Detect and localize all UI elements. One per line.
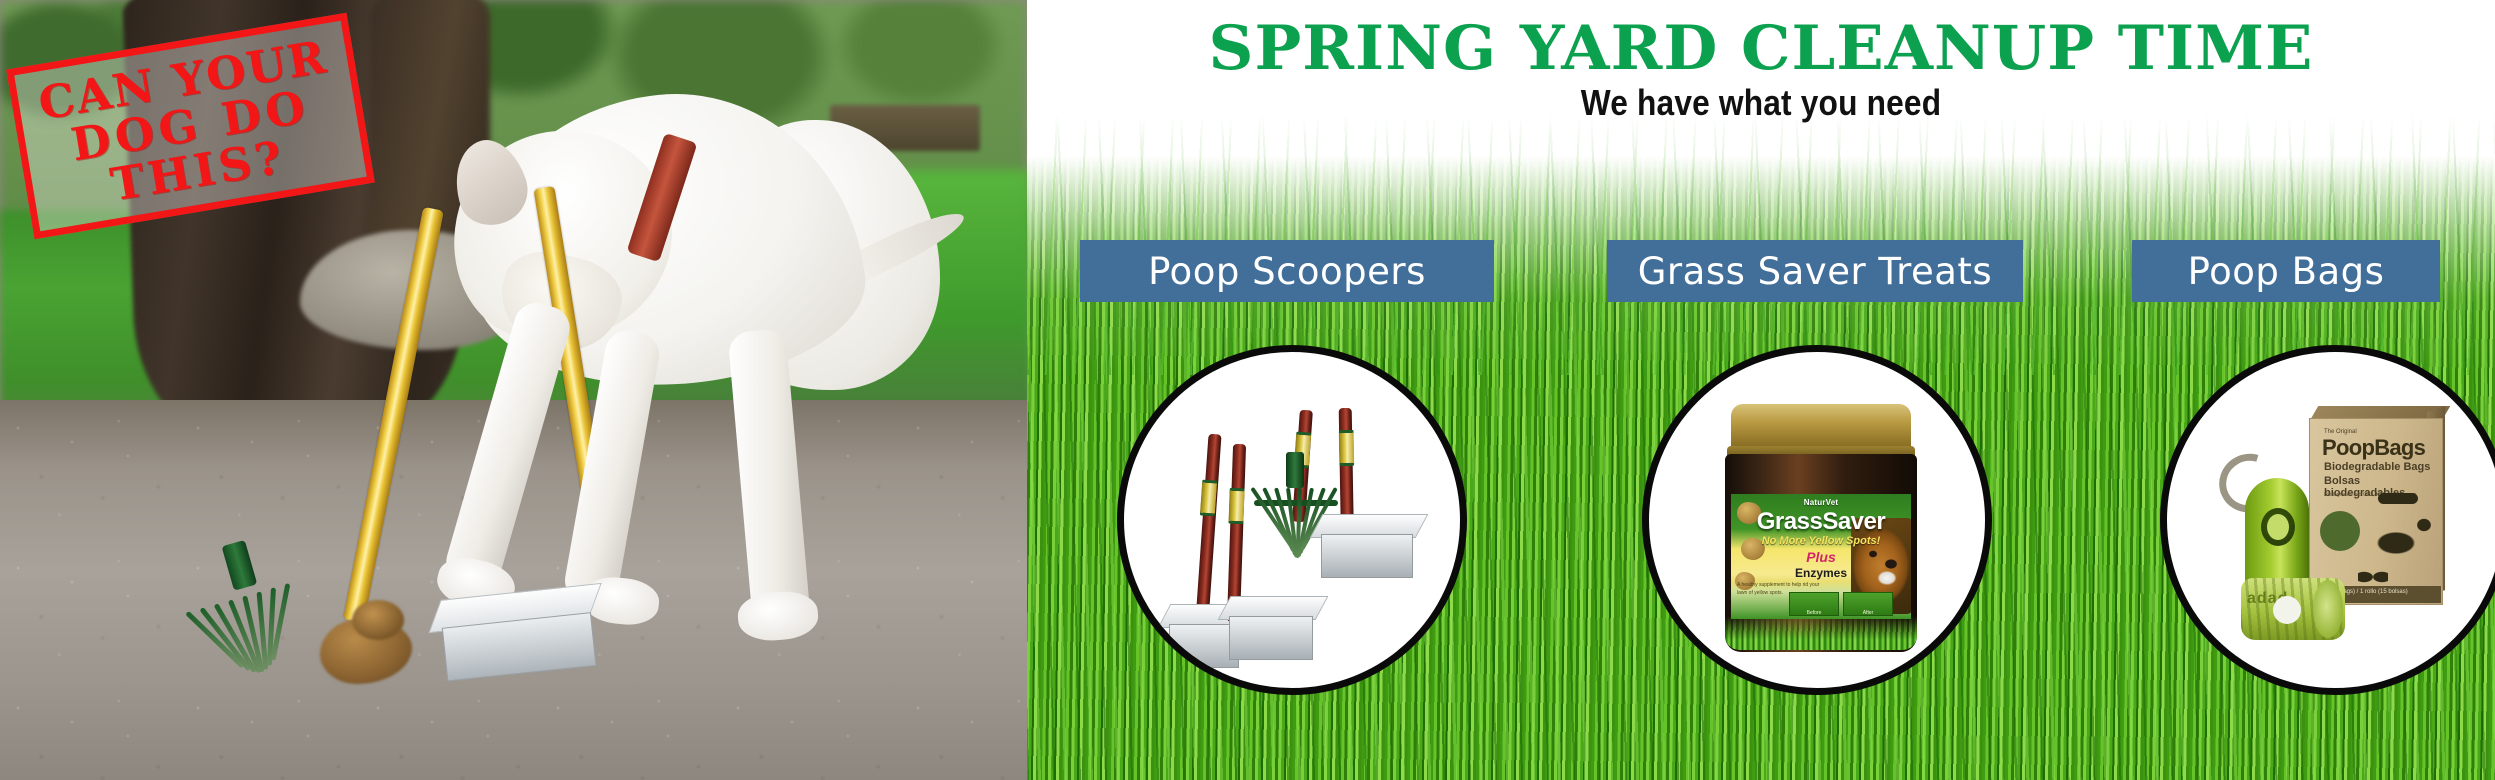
scoop-pan [433,584,601,688]
category-bar-poop-bags[interactable]: Poop Bags [2132,240,2440,302]
grasssaver-jar: NaturVet GrassSaver No More Yellow Spots… [1721,404,1921,654]
box-line-english: Biodegradable Bags [2324,461,2430,473]
scooper-grip-label [1339,430,1355,466]
bag-roll-end [2313,580,2343,638]
dog-silhouette-icon [2362,515,2438,577]
scooper-pan-front [1229,616,1313,660]
jar-label: NaturVet GrassSaver No More Yellow Spots… [1731,494,1911,619]
product-name: GrassSaver [1731,508,1911,536]
scooper-grip-label [1200,480,1217,517]
product-circle-scoopers[interactable] [1117,345,1467,695]
category-label: Grass Saver Treats [1638,250,1992,293]
product-plus: Plus [1731,549,1911,565]
dog-scooping-poop-photo: CAN YOUR DOG DO THIS? [0,0,1027,780]
category-label: Poop Scoopers [1148,250,1426,293]
after-caption: After [1844,610,1892,616]
category-bar-poop-scoopers[interactable]: Poop Scoopers [1080,240,1494,302]
category-label: Poop Bags [2188,250,2385,293]
rake-neck [1286,452,1304,488]
scooper-grip-label [1228,488,1244,525]
box-brand: PoopBags [2322,435,2425,461]
before-caption: Before [1790,610,1838,616]
poopbags-box: The Original PoopBags Biodegradable Bags… [2309,418,2443,605]
promo-title: SPRING YARD CLEANUP TIME [1027,18,2495,79]
promo-panel: SPRING YARD CLEANUP TIME We have what yo… [1027,0,2495,780]
spring-yard-cleanup-banner: CAN YOUR DOG DO THIS? SPRING YARD CLEANU… [0,0,2495,780]
bag-roll-label [2273,596,2301,624]
after-photo: After [1843,592,1893,616]
category-bar-grass-saver-treats[interactable]: Grass Saver Treats [1607,240,2023,302]
promo-subtitle: We have what you need [1115,82,2407,124]
jar-label-grass [1725,616,1917,650]
scooper-pan [1316,514,1420,586]
before-photo: Before [1789,592,1839,616]
poopbags-product: The Original PoopBags Biodegradable Bags… [2217,400,2467,650]
product-tagline: No More Yellow Spots! [1731,535,1911,547]
eco-seal-icon [2320,511,2360,551]
bone-icon [2378,493,2418,504]
dog-waste-highlight [352,600,404,640]
brand-naturvet: NaturVet [1731,498,1911,507]
product-circle-poop-bags[interactable]: The Original PoopBags Biodegradable Bags… [2160,345,2495,695]
scooper-handle [1195,434,1221,622]
product-variant: Enzymes [1731,566,1911,580]
dispenser-bag-roll [2267,514,2289,540]
scooper-pan [1224,596,1320,664]
scooper-pan-front [1321,534,1413,578]
product-circle-grass-saver[interactable]: NaturVet GrassSaver No More Yellow Spots… [1642,345,1992,695]
